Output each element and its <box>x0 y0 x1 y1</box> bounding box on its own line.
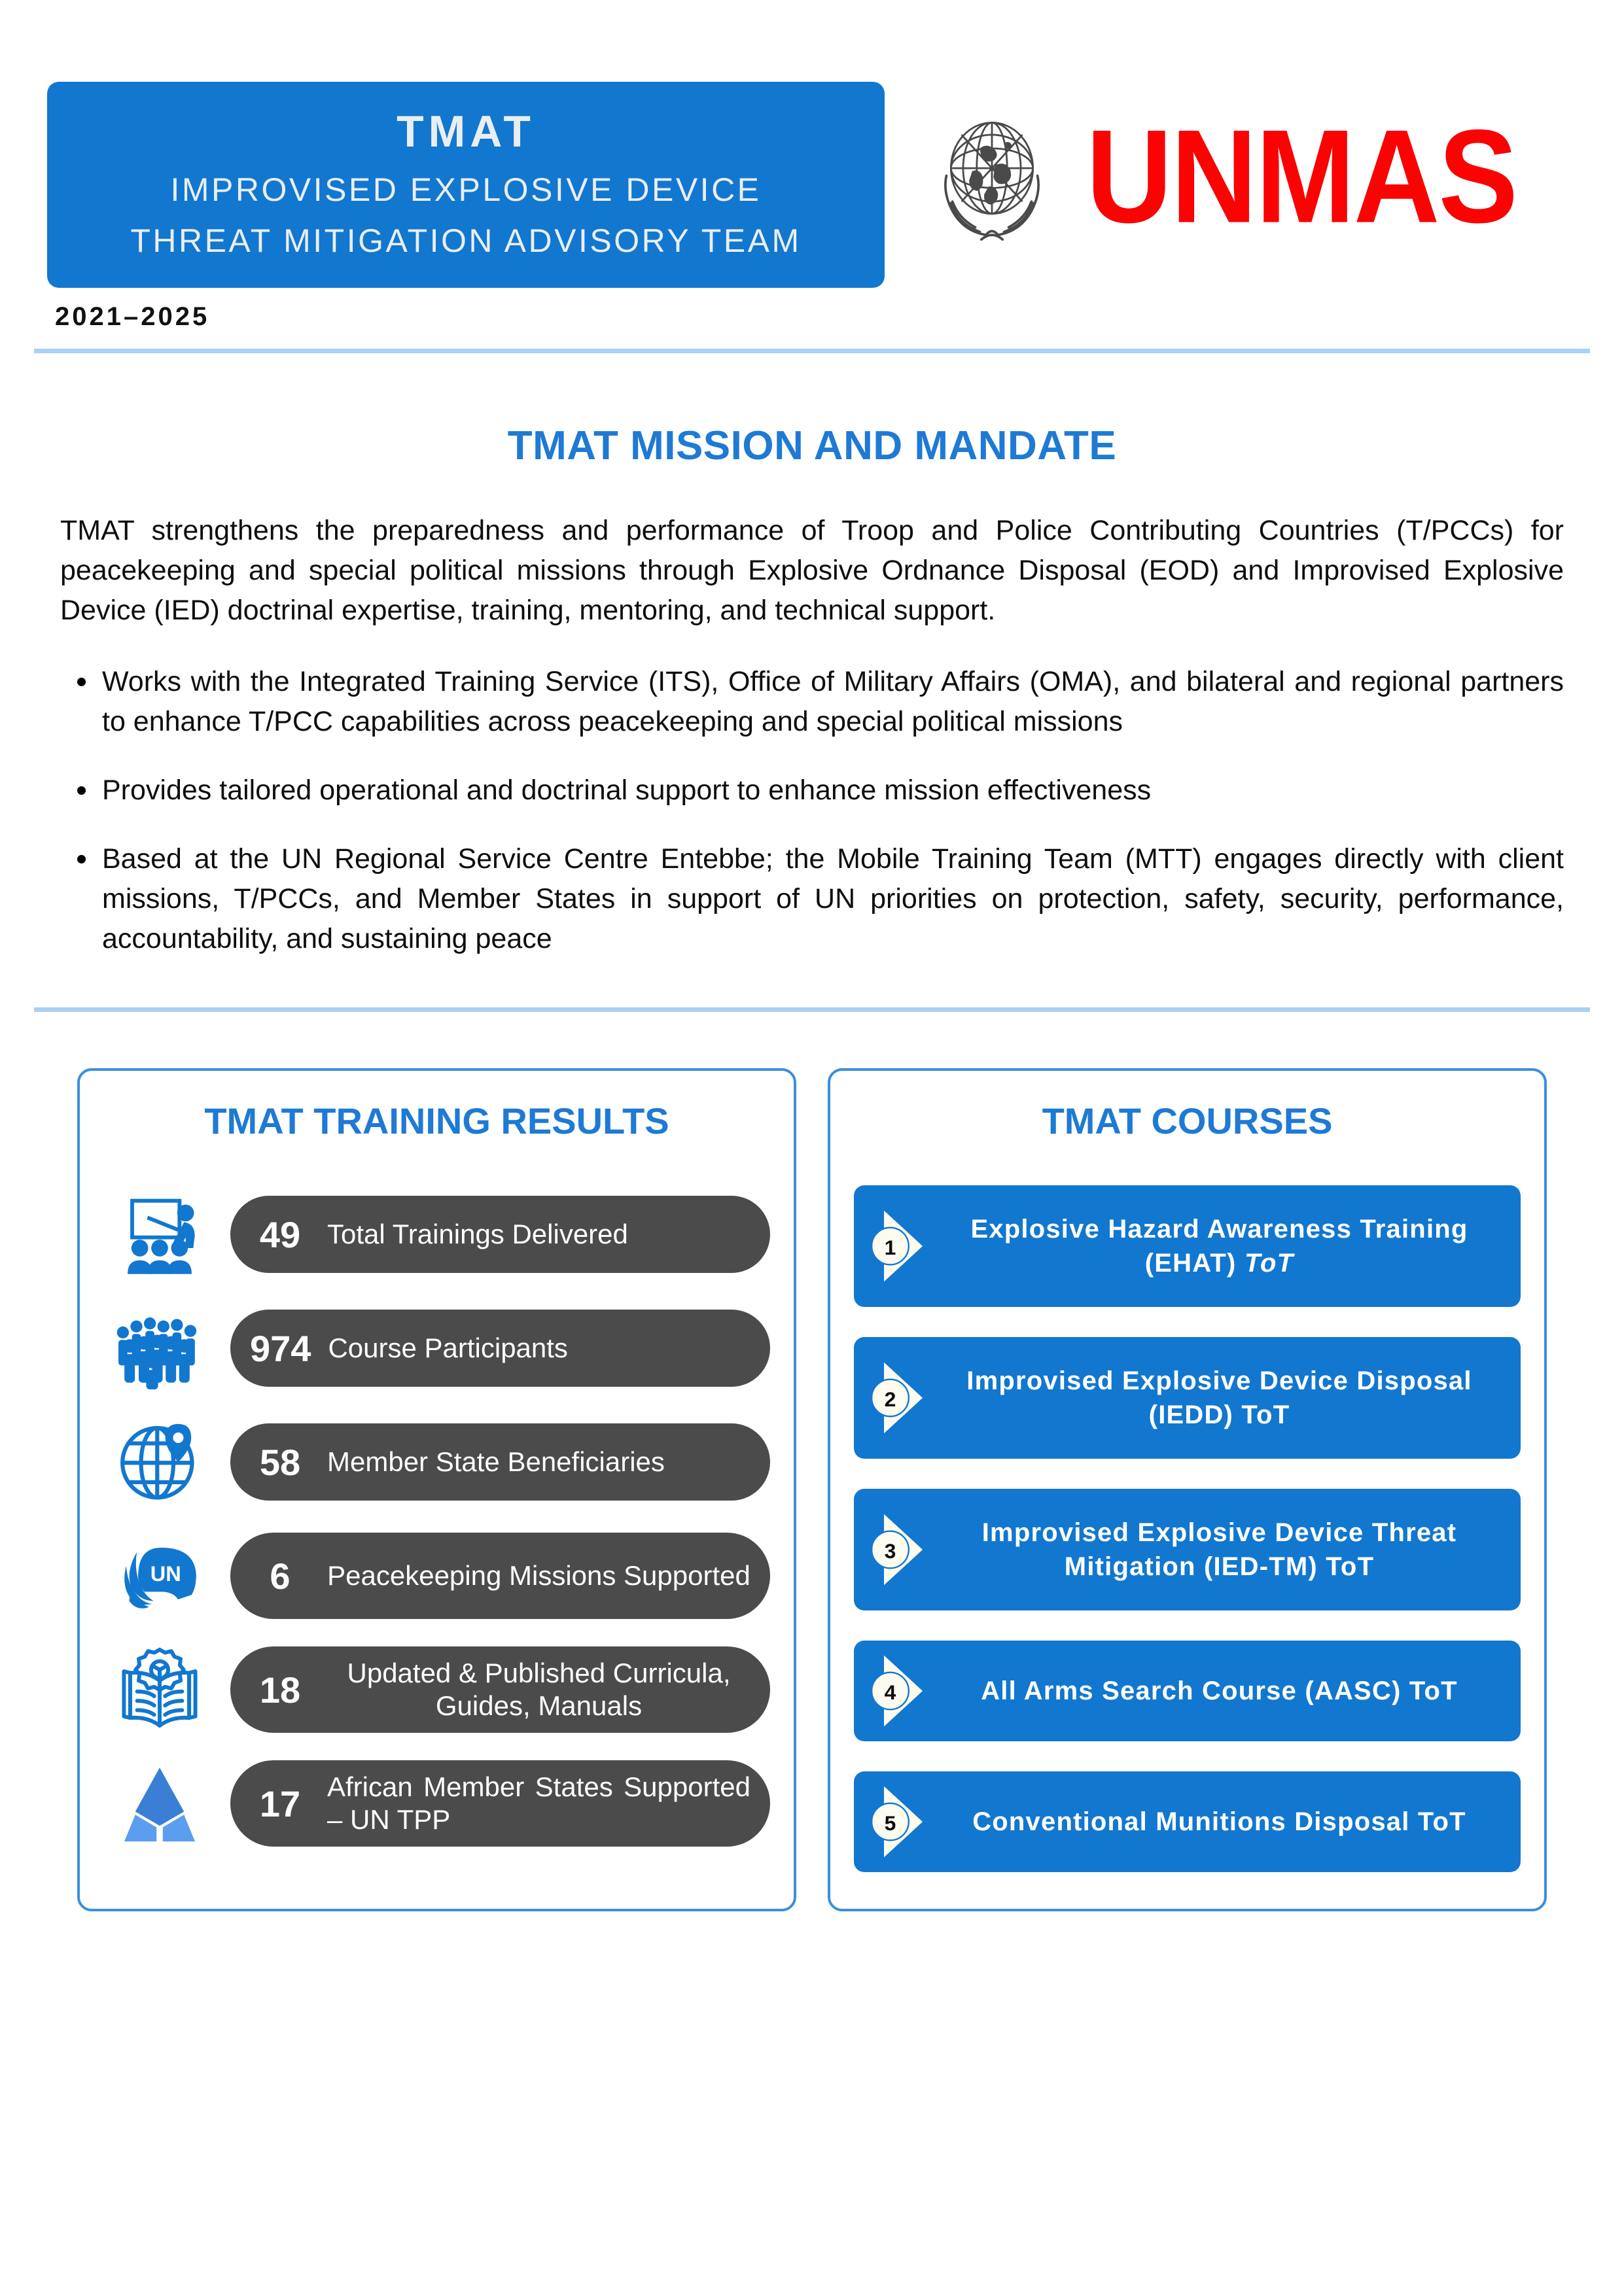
stat-pill: 6 Peacekeeping Missions Supported <box>230 1533 770 1619</box>
crowd-people-icon <box>103 1299 216 1397</box>
badge-number: 2 <box>885 1387 896 1411</box>
svg-text:UN: UN <box>150 1563 181 1586</box>
course-label: Improvised Explosive Device Disposal (IE… <box>944 1364 1501 1433</box>
stat-number: 974 <box>250 1327 311 1370</box>
stat-number: 18 <box>250 1669 310 1711</box>
brand-logo-group: UNMAS <box>885 82 1577 253</box>
numbered-chevron-badge-icon: 2 <box>870 1359 932 1436</box>
page-title: TMAT <box>73 104 858 160</box>
mission-paragraph: TMAT strengthens the preparedness and pe… <box>60 511 1564 631</box>
course-line-2: (EHAT) ToT <box>1145 1249 1294 1278</box>
un-helmet-olive-branch-icon: UN <box>103 1527 216 1625</box>
badge-number: 4 <box>885 1680 896 1704</box>
tot-italic: ToT <box>1244 1249 1294 1278</box>
course-line-2: (IEDD) ToT <box>1149 1400 1290 1429</box>
divider-top <box>34 349 1590 353</box>
list-item: Based at the UN Regional Service Centre … <box>60 839 1564 959</box>
numbered-chevron-badge-icon: 1 <box>870 1208 932 1285</box>
stat-label: Updated & Published Curricula, Guides, M… <box>327 1657 750 1723</box>
numbered-chevron-badge-icon: 4 <box>870 1652 932 1730</box>
stat-pill: 58 Member State Beneficiaries <box>230 1423 770 1501</box>
course-line-1: Improvised Explosive Device Disposal <box>966 1366 1472 1395</box>
unmas-wordmark: UNMAS <box>1086 123 1517 232</box>
title-banner: TMAT IMPROVISED EXPLOSIVE DEVICE THREAT … <box>47 82 885 288</box>
stat-label: Course Participants <box>328 1332 568 1365</box>
course-line-2: Mitigation (IED-TM) ToT <box>1065 1552 1374 1581</box>
course-line-1: Explosive Hazard Awareness Training <box>970 1215 1468 1244</box>
page-header: TMAT IMPROVISED EXPLOSIVE DEVICE THREAT … <box>0 0 1624 288</box>
list-item: Provides tailored operational and doctri… <box>60 771 1564 810</box>
un-emblem-icon <box>916 101 1068 253</box>
stat-row-african-states: 17 African Member States Supported – UN … <box>103 1754 770 1852</box>
stat-label: Peacekeeping Missions Supported <box>327 1559 750 1592</box>
stat-pill: 17 African Member States Supported – UN … <box>230 1760 770 1847</box>
course-label: Conventional Munitions Disposal ToT <box>944 1805 1501 1839</box>
mission-heading: TMAT MISSION AND MANDATE <box>60 423 1564 469</box>
mission-section: TMAT MISSION AND MANDATE TMAT strengthen… <box>0 423 1624 1007</box>
course-label: All Arms Search Course (AASC) ToT <box>944 1674 1501 1709</box>
badge-number: 1 <box>885 1236 896 1259</box>
stat-row-member-states: 58 Member State Beneficiaries <box>103 1413 770 1511</box>
years-range: 2021–2025 <box>55 302 1624 332</box>
stat-number: 17 <box>250 1783 310 1825</box>
triangle-pyramid-icon <box>103 1754 216 1852</box>
courses-title: TMAT COURSES <box>854 1100 1521 1142</box>
course-label: Improvised Explosive Device Threat Mitig… <box>944 1516 1501 1585</box>
stat-pill: 974 Course Participants <box>230 1310 770 1387</box>
courses-panel: TMAT COURSES 1 Explosive Hazard Awarenes… <box>828 1068 1547 1911</box>
course-card-2[interactable]: 2 Improvised Explosive Device Disposal (… <box>854 1337 1521 1459</box>
page-subtitle-line1: IMPROVISED EXPLOSIVE DEVICE <box>73 169 858 211</box>
training-results-title: TMAT TRAINING RESULTS <box>103 1100 770 1142</box>
stat-number: 6 <box>250 1555 310 1597</box>
mission-bullet-list: Works with the Integrated Training Servi… <box>60 662 1564 959</box>
book-gear-icon <box>103 1641 216 1739</box>
course-card-5[interactable]: 5 Conventional Munitions Disposal ToT <box>854 1771 1521 1872</box>
globe-location-pin-icon <box>103 1413 216 1511</box>
stat-row-trainings: 49 Total Trainings Delivered <box>103 1185 770 1283</box>
course-card-4[interactable]: 4 All Arms Search Course (AASC) ToT <box>854 1641 1521 1741</box>
stat-number: 49 <box>250 1213 310 1256</box>
classroom-training-icon <box>103 1185 216 1283</box>
numbered-chevron-badge-icon: 5 <box>870 1783 932 1860</box>
course-card-1[interactable]: 1 Explosive Hazard Awareness Training (E… <box>854 1185 1521 1307</box>
stat-label: African Member States Supported – UN TPP <box>327 1771 750 1837</box>
course-label: Explosive Hazard Awareness Training (EHA… <box>944 1212 1501 1281</box>
numbered-chevron-badge-icon: 3 <box>870 1511 932 1588</box>
stat-label: Total Trainings Delivered <box>327 1218 628 1251</box>
stat-row-participants: 974 Course Participants <box>103 1299 770 1397</box>
page-subtitle-line2: THREAT MITIGATION ADVISORY TEAM <box>73 220 858 262</box>
stat-row-peacekeeping: UN 6 Peacekeeping Missions Supported <box>103 1527 770 1625</box>
stat-pill: 18 Updated & Published Curricula, Guides… <box>230 1646 770 1733</box>
badge-number: 5 <box>885 1811 896 1835</box>
course-line-1: Improvised Explosive Device Threat <box>982 1518 1457 1547</box>
stat-pill: 49 Total Trainings Delivered <box>230 1196 770 1273</box>
divider-bottom <box>34 1007 1590 1012</box>
badge-number: 3 <box>885 1539 896 1563</box>
panels-row: TMAT TRAINING RESULTS 49 Tota <box>0 1012 1624 1911</box>
stat-label: Member State Beneficiaries <box>327 1446 665 1478</box>
list-item: Works with the Integrated Training Servi… <box>60 662 1564 742</box>
course-card-3[interactable]: 3 Improvised Explosive Device Threat Mit… <box>854 1489 1521 1610</box>
stat-number: 58 <box>250 1441 310 1484</box>
training-results-panel: TMAT TRAINING RESULTS 49 Tota <box>77 1068 796 1911</box>
stat-row-curricula: 18 Updated & Published Curricula, Guides… <box>103 1641 770 1739</box>
